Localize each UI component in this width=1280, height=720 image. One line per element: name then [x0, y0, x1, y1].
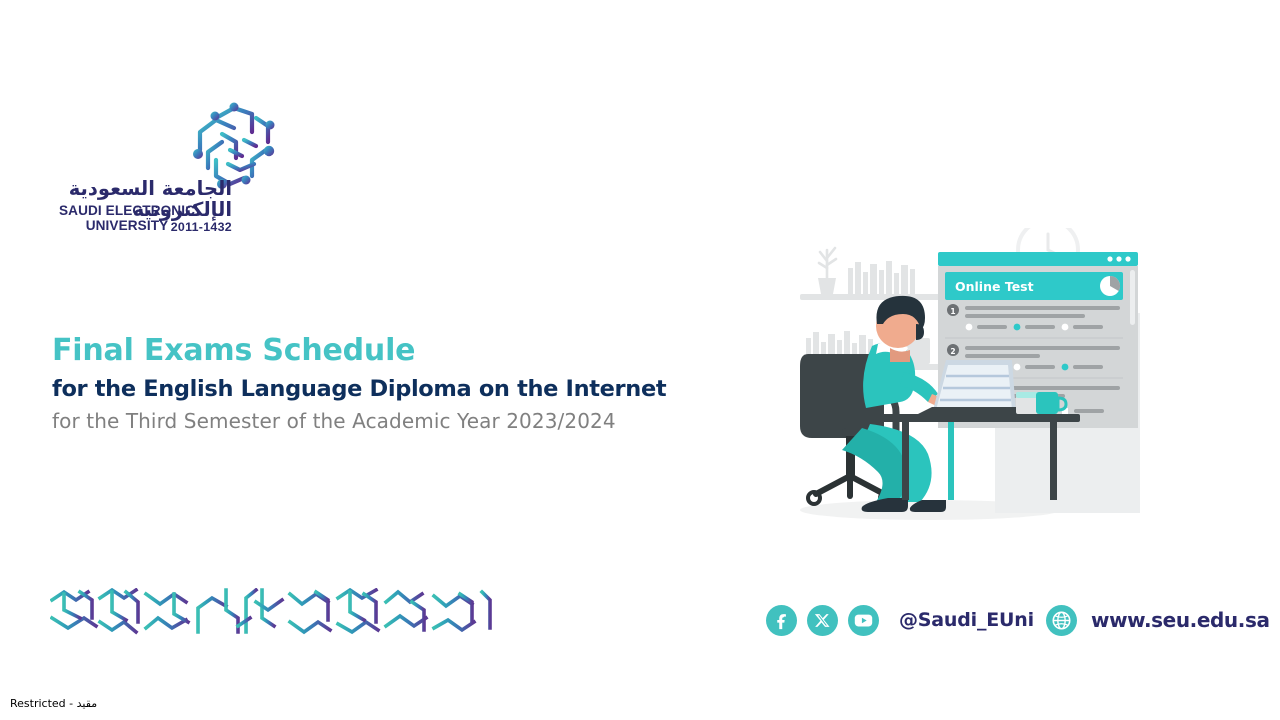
social-handle: @Saudi_EUni	[899, 609, 1034, 631]
footer-social-group: @Saudi_EUni	[766, 600, 1034, 640]
seu-circuit-pattern	[50, 588, 500, 638]
page-semester-line: for the Third Semester of the Academic Y…	[52, 409, 752, 433]
logo-year: 2011-1432	[22, 220, 232, 234]
page-title: Final Exams Schedule	[52, 332, 752, 370]
page-subtitle: for the English Language Diploma on the …	[52, 376, 752, 403]
globe-icon[interactable]	[1046, 605, 1077, 636]
question-number: 1	[950, 307, 955, 316]
online-test-window-title: Online Test	[955, 279, 1034, 294]
footer-website-group: www.seu.edu.sa	[1046, 600, 1270, 640]
question-number: 2	[950, 347, 955, 356]
facebook-icon[interactable]	[766, 605, 797, 636]
classification-marking: Restricted - مقيد	[10, 697, 97, 710]
online-test-illustration: Online Test 1 2	[780, 228, 1150, 528]
slide-canvas: الجامعة السعودية الإلكترونية SAUDI ELECT…	[0, 0, 1280, 720]
website-url[interactable]: www.seu.edu.sa	[1091, 608, 1270, 632]
title-group: Final Exams Schedule for the English Lan…	[52, 332, 752, 433]
x-twitter-icon[interactable]	[807, 605, 838, 636]
youtube-icon[interactable]	[848, 605, 879, 636]
